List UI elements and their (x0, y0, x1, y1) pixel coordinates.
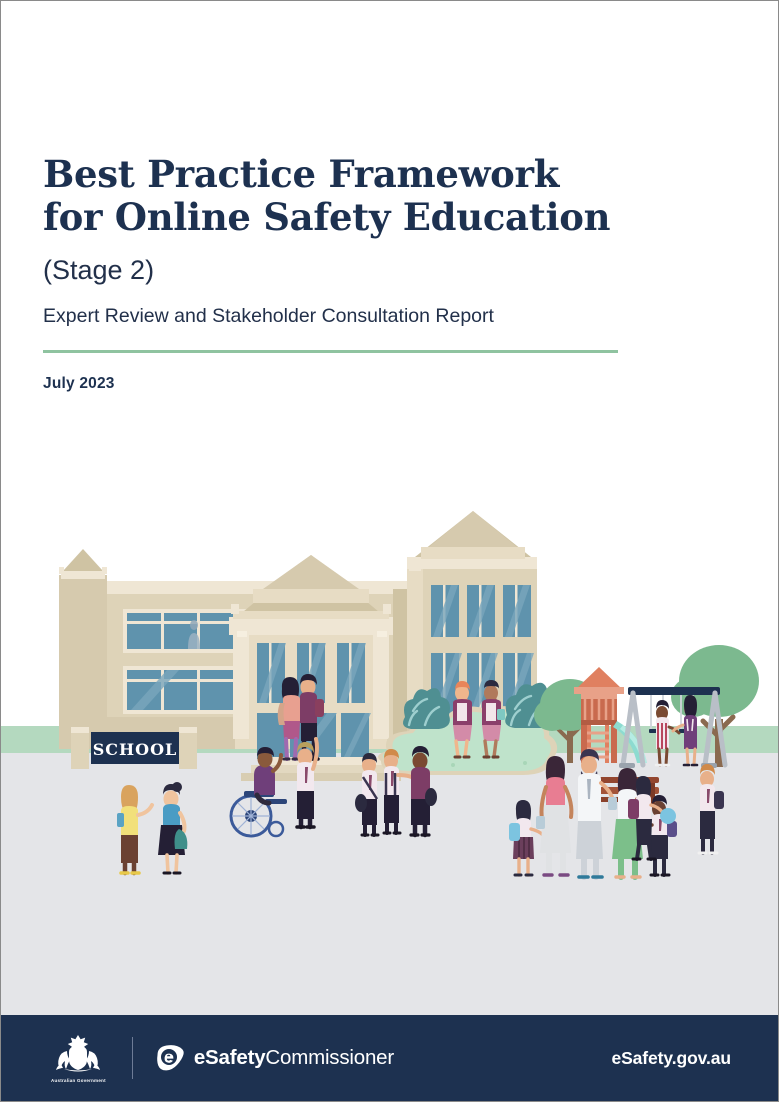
title-block: Best Practice Framework for Online Safet… (43, 153, 663, 393)
footer-divider (132, 1037, 133, 1079)
website-url[interactable]: eSafety.gov.au (611, 1048, 731, 1069)
esafety-logo-lockup[interactable]: eSafetyCommissioner (155, 1043, 394, 1073)
esafety-e-logo-icon (155, 1043, 185, 1073)
esafety-wordmark: eSafetyCommissioner (194, 1046, 394, 1070)
footer-brand-lockup: Australian Government eSafetyCommissione… (51, 1033, 394, 1083)
title-line-2: for Online Safety Education (43, 196, 663, 239)
page-title: Best Practice Framework for Online Safet… (43, 153, 663, 240)
brand-name-bold: eSafety (194, 1046, 266, 1069)
document-subtitle: Expert Review and Stakeholder Consultati… (43, 305, 663, 328)
cover-illustration: SCHOOL (1, 441, 778, 1015)
cover-page: Best Practice Framework for Online Safet… (1, 1, 778, 1101)
page-footer: Australian Government eSafetyCommissione… (1, 1015, 778, 1101)
crest-caption: Australian Government (51, 1078, 106, 1083)
window-group-right-upper (431, 585, 531, 637)
title-line-1: Best Practice Framework (43, 153, 663, 196)
document-stage: (Stage 2) (43, 256, 663, 286)
school-sign-label: SCHOOL (93, 740, 178, 759)
title-divider-rule (43, 350, 618, 353)
brand-name-light: Commissioner (265, 1046, 394, 1069)
document-date: July 2023 (43, 375, 663, 393)
australian-government-lockup: Australian Government (51, 1033, 106, 1083)
australian-coat-of-arms-icon (52, 1033, 104, 1077)
